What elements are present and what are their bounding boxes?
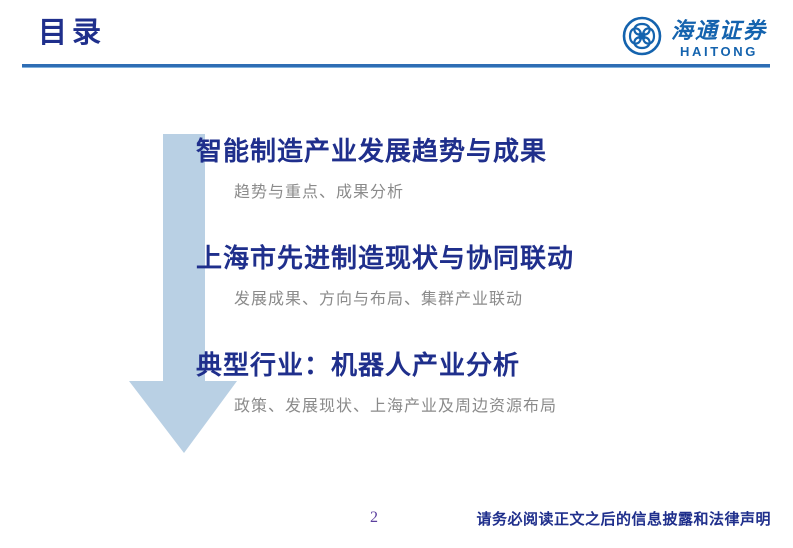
agenda-item-3[interactable]: 典型行业：机器人产业分析 政策、发展现状、上海产业及周边资源布局 [196,350,557,416]
footer-disclaimer: 请务必阅读正文之后的信息披露和法律声明 [476,508,771,529]
agenda-item-3-subtitle: 政策、发展现状、上海产业及周边资源布局 [234,392,557,416]
agenda-item-2-subtitle: 发展成果、方向与布局、集群产业联动 [234,285,574,309]
agenda-item-1[interactable]: 智能制造产业发展趋势与成果 趋势与重点、成果分析 [196,136,547,202]
agenda-item-2-title: 上海市先进制造现状与协同联动 [196,243,574,276]
agenda-item-2[interactable]: 上海市先进制造现状与协同联动 发展成果、方向与布局、集群产业联动 [196,243,574,309]
presentation-slide: 目录 海通证券 HAITONG 智能制造产业发展趋势与成果 趋势与重点 [0,0,793,548]
agenda-item-1-title: 智能制造产业发展趋势与成果 [196,136,547,169]
agenda-item-3-title: 典型行业：机器人产业分析 [196,350,557,383]
agenda-item-1-subtitle: 趋势与重点、成果分析 [234,178,547,202]
agenda-list: 智能制造产业发展趋势与成果 趋势与重点、成果分析 上海市先进制造现状与协同联动 … [0,0,793,548]
page-number: 2 [370,509,378,527]
